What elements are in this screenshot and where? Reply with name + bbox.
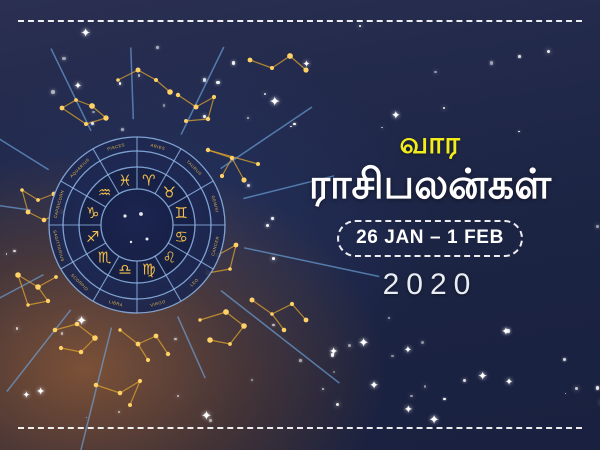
zodiac-glyph-sagittarius: ♐ [86,228,99,246]
zodiac-glyph-taurus: ♉ [163,184,176,202]
star-dot [331,353,334,356]
star-sparkle: ✦ [201,409,212,422]
star-dot [118,411,121,414]
star-dot [293,123,295,125]
star-dot [91,122,94,125]
star-sparkle: ✦ [22,391,30,401]
constellation-star [26,210,31,215]
star-dot [388,317,390,319]
constellation-star [241,177,246,182]
page-title: ராசிபலன்கள் [280,162,580,207]
constellation-star [84,122,88,126]
constellation-star [20,188,24,192]
star-dot [506,329,509,332]
top-dashed-divider [18,20,582,22]
star-dot [575,387,578,390]
constellation-star [248,58,253,63]
constellation-cluster [118,328,170,362]
constellation-star [15,272,21,278]
constellation-star [42,218,47,223]
star-dot [322,388,324,390]
constellation-cluster [116,68,173,95]
star-dot [596,225,599,228]
star-dot [421,341,424,344]
constellation-cluster [53,322,98,355]
star-dot [177,395,180,398]
star-sparkle: ✦ [505,378,513,388]
star-dot [463,379,466,382]
constellation-star [79,350,84,355]
star-sparkle: ✦ [76,315,87,328]
star-dot [156,46,159,49]
star-sparkle: ✦ [391,111,401,123]
star-dot [424,385,426,387]
constellation-star [207,337,213,343]
constellation-star [74,98,78,102]
star-dot [119,82,122,85]
star-dot [13,250,16,253]
wheel-core-star [146,238,149,241]
star-dot [272,324,275,327]
radial-ray [0,111,49,169]
star-dot [247,117,249,119]
constellation-star [75,322,80,327]
star-dot [121,128,124,131]
star-dot [6,253,8,255]
constellation-star [53,328,58,333]
radial-ray [181,47,224,135]
constellation-star [234,243,239,248]
constellation-star [166,352,170,356]
star-dot [443,398,445,400]
constellation-star [176,93,180,97]
star-dot [272,257,275,260]
constellation-star [89,103,95,109]
star-dot [203,78,206,81]
zodiac-glyph-pisces: ♓ [118,172,131,190]
constellation-star [230,156,234,160]
constellation-star [212,95,216,99]
zodiac-glyph-aquarius: ♒ [98,184,111,202]
constellation-star [228,342,232,346]
constellation-star [167,89,173,95]
constellation-star [282,328,287,333]
constellation-star [146,358,150,362]
star-dot [251,379,253,381]
radial-ray [221,291,339,384]
star-dot [565,393,566,394]
star-sparkle: ✦ [80,27,90,39]
star-sparkle: ✦ [404,405,413,416]
constellation-cluster [248,53,309,73]
constellation-star [270,66,274,70]
constellation-star [138,379,142,383]
star-dot [266,224,269,227]
star-dot [174,338,177,341]
zodiac-glyph-scorpio: ♏ [98,248,112,266]
constellation-star [60,106,65,111]
constellation-star [241,323,247,329]
zodiac-glyph-virgo: ♍ [142,260,155,278]
constellation-cluster [60,98,109,126]
wheel-core-star [123,214,126,217]
zodiac-glyph-leo: ♌ [163,248,176,266]
wheel-core-star [139,212,143,216]
constellation-star [35,284,41,290]
star-dot [247,184,250,187]
star-dot [61,332,64,335]
star-dot [547,50,550,53]
constellation-star [136,342,141,347]
radial-ray [0,189,31,210]
zodiac-glyph-gemini: ♊ [175,204,188,222]
wheel-core-star [130,241,132,243]
zodiac-glyph-libra: ♎ [118,260,131,278]
zodiac-wheel: ♈ARIES♉TAURUS♊GEMINI♋CANCER♌LEO♍VIRGO♎LI… [47,135,227,315]
constellation-star [304,318,309,323]
star-dot [92,111,94,113]
star-dot [16,327,19,330]
kicker-text: வார [280,128,580,160]
star-sparkle: ✦ [36,387,45,398]
star-sparkle: ✦ [302,59,310,68]
constellation-star [94,383,99,388]
star-dot [62,57,65,60]
star-dot [596,386,599,389]
constellation-cluster [250,298,309,333]
star-dot [563,358,566,361]
zodiac-wheel-svg: ♈ARIES♉TAURUS♊GEMINI♋CANCER♌LEO♍VIRGO♎LI… [47,135,227,315]
star-sparkle: ✦ [429,414,440,427]
constellation-star [184,119,188,123]
star-sparkle: ✦ [404,346,413,356]
radial-ray [0,275,44,333]
constellation-star [206,117,210,121]
constellation-star [198,318,201,321]
star-dot [138,74,141,77]
radial-ray [178,316,206,378]
constellation-star [154,334,159,339]
star-dot [434,71,437,74]
star-sparkle: ✦ [478,370,488,382]
star-dot [209,419,212,422]
year-label: 2020 [280,268,580,302]
constellation-star [118,328,121,331]
star-dot [232,61,235,64]
poster-text-block: வார ராசிபலன்கள் 26 JAN – 1 FEB 2020 [280,128,580,302]
constellation-star [103,115,108,120]
zodiac-glyph-cancer: ♋ [175,228,188,246]
star-sparkle: ✦ [369,381,379,393]
star-dot [391,355,394,358]
star-dot [86,417,87,418]
constellation-star [303,67,308,72]
star-dot [410,395,413,398]
star-dot [216,81,219,84]
star-dot [264,93,266,95]
constellation-star [128,403,132,407]
constellation-star [136,68,141,73]
radial-ray [131,48,134,120]
constellation-star [59,346,63,350]
star-dot [51,90,54,93]
star-sparkle: ✦ [501,327,510,338]
star-dot [333,371,336,374]
star-dot [348,344,351,347]
star-dot [443,107,445,109]
star-sparkle: ✦ [329,347,338,358]
constellation-star [228,267,232,271]
zodiac-glyph-aries: ♈ [142,172,155,190]
star-dot [518,55,521,58]
constellation-cluster [94,379,142,407]
constellation-star [92,335,98,341]
star-dot [336,403,339,406]
constellation-star [26,303,29,306]
constellation-star [118,391,123,396]
star-dot [359,25,361,27]
bottom-dashed-divider [18,427,582,429]
constellation-star [36,198,40,202]
constellation-star [287,53,293,59]
constellation-star [116,78,120,82]
zodiac-glyph-capricorn: ♑ [86,204,99,222]
constellation-star [154,78,158,82]
constellation-star [194,105,199,110]
constellation-star [290,302,294,306]
star-sparkle: ✦ [269,95,280,109]
star-dot [299,359,302,362]
star-sparkle: ✦ [358,337,369,350]
horoscope-poster: ✦✦✦✦✦✦✦✦✦✦✦✦✦✦✦✦✦✦ ♈ARIES♉TAURUS♊GEMINI♋… [0,0,600,450]
radial-ray [51,49,91,131]
star-dot [203,115,206,118]
date-range-badge: 26 JAN – 1 FEB [337,220,523,257]
constellation-star [250,298,255,303]
constellation-star [256,162,260,166]
star-dot [163,104,166,107]
star-dot [490,61,493,64]
radial-ray [80,328,112,450]
star-dot [271,217,274,220]
star-sparkle: ✦ [74,82,82,92]
constellation-star [270,312,274,316]
radial-ray [7,310,71,392]
constellation-cluster [176,93,216,123]
